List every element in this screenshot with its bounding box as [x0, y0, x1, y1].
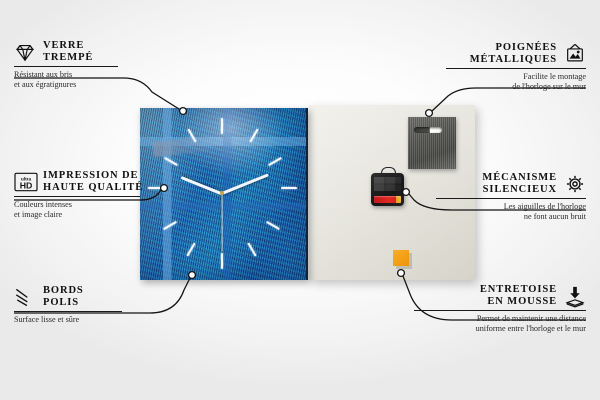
- hanger-keyhole-slot: [414, 127, 442, 133]
- ultra-hd-icon: ultra HD: [14, 171, 36, 193]
- clock-mechanism: [371, 173, 404, 206]
- clock-tick: [249, 129, 258, 143]
- callout-title-line2: EN MOUSSE: [480, 296, 557, 308]
- callout-title-line1: VERRE: [43, 40, 93, 52]
- callout-title-line2: TREMPÉ: [43, 52, 93, 64]
- callout-mecanisme-silencieux: MÉCANISME SILENCIEUX Les aiguilles de l'…: [436, 172, 586, 222]
- callout-sub-line1: Résistant aux bris: [14, 70, 134, 80]
- clock-tick: [281, 187, 297, 189]
- callout-verre-trempe: VERRE TREMPÉ Résistant aux bris et aux é…: [14, 40, 134, 90]
- wall-hanger-frame-icon: [564, 43, 586, 65]
- clock-tick: [247, 243, 256, 257]
- hd-label: HD: [20, 180, 33, 190]
- battery: [374, 196, 401, 203]
- callout-title-line1: ENTRETOISE: [480, 284, 557, 296]
- callout-sub-line1: Surface lisse et sûre: [14, 315, 134, 325]
- infographic-canvas: VERRE TREMPÉ Résistant aux bris et aux é…: [0, 0, 600, 400]
- foam-spacer-arrow-icon: [564, 285, 586, 307]
- callout-entretoise-en-mousse: ENTRETOISE EN MOUSSE Permet de maintenir…: [414, 284, 586, 334]
- callout-divider: [446, 68, 586, 69]
- clock-center-cap: [220, 191, 224, 195]
- hour-hand: [181, 176, 223, 196]
- callout-impression-haute-qualite: ultra HD IMPRESSION DE HAUTE QUALITÉ Cou…: [14, 170, 154, 220]
- callout-title-line2: POLIS: [43, 297, 84, 309]
- minute-hand: [221, 173, 269, 195]
- glass-reflection: [153, 136, 214, 158]
- clock-tick: [268, 157, 282, 166]
- callout-title-line1: POIGNÉES: [470, 42, 557, 54]
- callout-title-line1: MÉCANISME: [482, 172, 557, 184]
- callout-divider: [14, 66, 118, 67]
- hanger-loop: [381, 167, 396, 176]
- second-hand: [221, 194, 222, 252]
- clock-face-glass-panel: [140, 108, 308, 280]
- callout-sub-line2: et aux égratignures: [14, 80, 134, 90]
- callout-title-line1: IMPRESSION DE: [43, 170, 143, 182]
- diamond-icon: [14, 41, 36, 63]
- clock-tick: [186, 243, 195, 257]
- clock-tick: [163, 221, 177, 230]
- callout-sub-line1: Permet de maintenir une distance: [414, 314, 586, 324]
- clock-tick: [187, 129, 196, 143]
- callout-title-line1: BORDS: [43, 285, 84, 297]
- callout-poignees-metalliques: POIGNÉES MÉTALLIQUES Facilite le montage…: [446, 42, 586, 92]
- mechanism-housing-detail: [374, 177, 401, 191]
- clock-tick: [164, 157, 178, 166]
- polished-edges-icon: [14, 286, 36, 308]
- callout-sub-line2: ne font aucun bruit: [436, 212, 586, 222]
- callout-sub-line1: Les aiguilles de l'horloge: [436, 202, 586, 212]
- callout-divider: [436, 198, 586, 199]
- callout-sub-line2: et image claire: [14, 210, 154, 220]
- clock-tick: [221, 118, 223, 134]
- gear-icon: [564, 173, 586, 195]
- callout-divider: [14, 311, 122, 312]
- callout-divider: [414, 310, 586, 311]
- callout-sub-line1: Facilite le montage: [446, 72, 586, 82]
- clock-tick: [221, 253, 223, 269]
- callout-title-line2: SILENCIEUX: [482, 184, 557, 196]
- foam-spacer: [393, 250, 409, 266]
- callout-title-line2: MÉTALLIQUES: [470, 54, 557, 66]
- clock-tick: [266, 221, 280, 230]
- callout-sub-line2: uniforme entre l'horloge et le mur: [414, 324, 586, 334]
- callout-bords-polis: BORDS POLIS Surface lisse et sûre: [14, 285, 134, 325]
- callout-title-line2: HAUTE QUALITÉ: [43, 182, 143, 194]
- callout-sub-line2: de l'horloge sur le mur: [446, 82, 586, 92]
- callout-sub-line1: Couleurs intenses: [14, 200, 154, 210]
- callout-divider: [14, 196, 140, 197]
- metal-hanger-plate: [408, 117, 456, 169]
